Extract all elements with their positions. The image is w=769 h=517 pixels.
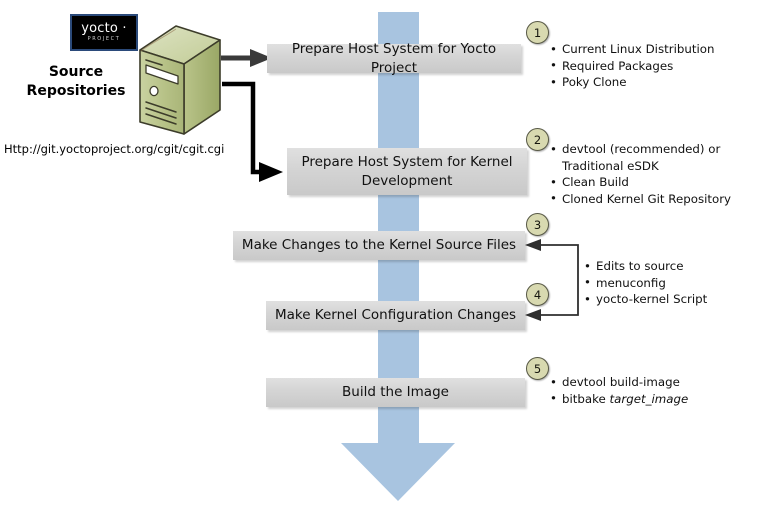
process-box-step-4-label: Make Kernel Configuration Changes: [275, 306, 516, 325]
step-number-1-text: 1: [534, 26, 541, 40]
list-item: Edits to source: [583, 258, 707, 275]
step-2-bullet-list: devtool (recommended) or Traditional eSD…: [549, 141, 731, 207]
process-box-step-5[interactable]: Build the Image: [266, 378, 525, 407]
process-box-step-2-label-line1: Prepare Host System for Kernel: [301, 153, 512, 172]
list-item: Clean Build: [549, 174, 731, 191]
list-item: devtool build-image: [549, 374, 688, 391]
step-number-5: 5: [526, 357, 549, 380]
list-item: Cloned Kernel Git Repository: [549, 191, 731, 208]
process-box-step-2-label-line2: Development: [362, 172, 453, 191]
list-item: Required Packages: [549, 58, 714, 75]
process-box-step-5-label: Build the Image: [342, 383, 449, 402]
list-item: menuconfig: [583, 275, 707, 292]
step-number-2-text: 2: [534, 133, 541, 147]
step-number-3-text: 3: [534, 218, 541, 232]
list-item-continuation: Traditional eSDK: [549, 158, 731, 175]
process-box-step-3[interactable]: Make Changes to the Kernel Source Files: [233, 231, 525, 260]
list-item-parameter: target_image: [610, 392, 689, 406]
step-number-5-text: 5: [534, 362, 541, 376]
step-number-3: 3: [526, 213, 549, 236]
list-item: Poky Clone: [549, 74, 714, 91]
list-item: Current Linux Distribution: [549, 41, 714, 58]
step-number-1: 1: [526, 21, 549, 44]
process-box-step-2[interactable]: Prepare Host System for Kernel Developme…: [287, 148, 527, 195]
step-5-bullet-list: devtool build-image bitbake target_image: [549, 374, 688, 407]
list-item: devtool (recommended) or: [549, 141, 731, 158]
steps-3-4-bullet-list: Edits to source menuconfig yocto-kernel …: [583, 258, 707, 308]
process-box-step-1[interactable]: Prepare Host System for Yocto Project: [267, 44, 521, 73]
workflow-diagram: yocto · PROJECT Source Repositories Http…: [0, 0, 769, 517]
step-1-bullet-list: Current Linux Distribution Required Pack…: [549, 41, 714, 91]
process-box-step-3-label: Make Changes to the Kernel Source Files: [242, 236, 516, 255]
step-number-4: 4: [526, 283, 549, 306]
list-item: yocto-kernel Script: [583, 291, 707, 308]
process-box-step-4[interactable]: Make Kernel Configuration Changes: [266, 301, 525, 330]
step-number-4-text: 4: [534, 288, 541, 302]
list-item: bitbake target_image: [549, 391, 688, 408]
list-item-command: bitbake: [562, 392, 610, 406]
step-number-2: 2: [526, 128, 549, 151]
process-box-step-1-label: Prepare Host System for Yocto Project: [275, 40, 513, 78]
